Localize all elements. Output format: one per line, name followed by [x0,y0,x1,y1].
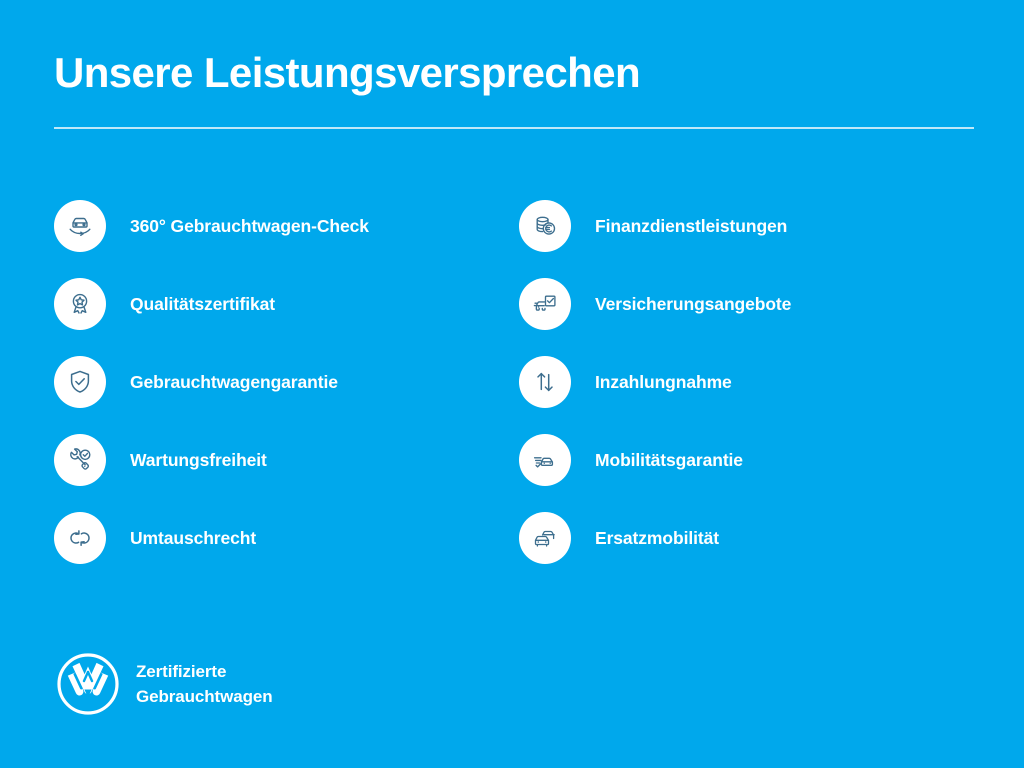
brand-lockup: Zertifizierte Gebrauchtwagen [54,650,273,718]
coins-euro-icon [519,200,571,252]
car-document-icon [519,278,571,330]
wrench-check-icon [54,434,106,486]
feature-item-qualitaetszertifikat[interactable]: Qualitätszertifikat [54,278,519,330]
car-360-check-icon [54,200,106,252]
volkswagen-logo-icon [54,650,122,718]
award-rosette-icon [54,278,106,330]
feature-item-finanzdienstleistungen[interactable]: Finanzdienstleistungen [519,200,984,252]
feature-column-left: 360° Gebrauchtwagen-Check Qualitätszerti… [54,200,519,564]
feature-label: Wartungsfreiheit [130,450,267,471]
feature-label: Qualitätszertifikat [130,294,275,315]
feature-label: Versicherungsangebote [595,294,791,315]
feature-item-ersatzmobilitaet[interactable]: Ersatzmobilität [519,512,984,564]
feature-item-mobilitaetsgarantie[interactable]: Mobilitätsgarantie [519,434,984,486]
promise-slide: Unsere Leistungsversprechen 360° Gebrauc [0,0,1024,768]
feature-column-right: Finanzdienstleistungen Versicheru [519,200,984,564]
brand-text: Zertifizierte Gebrauchtwagen [136,659,273,709]
features-grid: 360° Gebrauchtwagen-Check Qualitätszerti… [54,200,984,564]
up-down-arrows-icon [519,356,571,408]
feature-label: Ersatzmobilität [595,528,719,549]
title-divider [54,127,974,129]
feature-item-wartungsfreiheit[interactable]: Wartungsfreiheit [54,434,519,486]
feature-item-inzahlungnahme[interactable]: Inzahlungnahme [519,356,984,408]
page-title: Unsere Leistungsversprechen [54,48,974,98]
feature-item-versicherungsangebote[interactable]: Versicherungsangebote [519,278,984,330]
feature-label: Inzahlungnahme [595,372,732,393]
brand-line-1: Zertifizierte [136,659,273,684]
feature-label: Gebrauchtwagengarantie [130,372,338,393]
shield-check-icon [54,356,106,408]
exchange-arrows-icon [54,512,106,564]
feature-item-gebrauchtwagengarantie[interactable]: Gebrauchtwagengarantie [54,356,519,408]
feature-label: Mobilitätsgarantie [595,450,743,471]
car-motion-icon [519,434,571,486]
feature-label: Umtauschrecht [130,528,256,549]
header: Unsere Leistungsversprechen [54,48,974,129]
feature-label: Finanzdienstleistungen [595,216,787,237]
feature-label: 360° Gebrauchtwagen-Check [130,216,369,237]
feature-item-umtauschrecht[interactable]: Umtauschrecht [54,512,519,564]
two-cars-icon [519,512,571,564]
brand-line-2: Gebrauchtwagen [136,684,273,709]
feature-item-gebrauchtwagen-check[interactable]: 360° Gebrauchtwagen-Check [54,200,519,252]
